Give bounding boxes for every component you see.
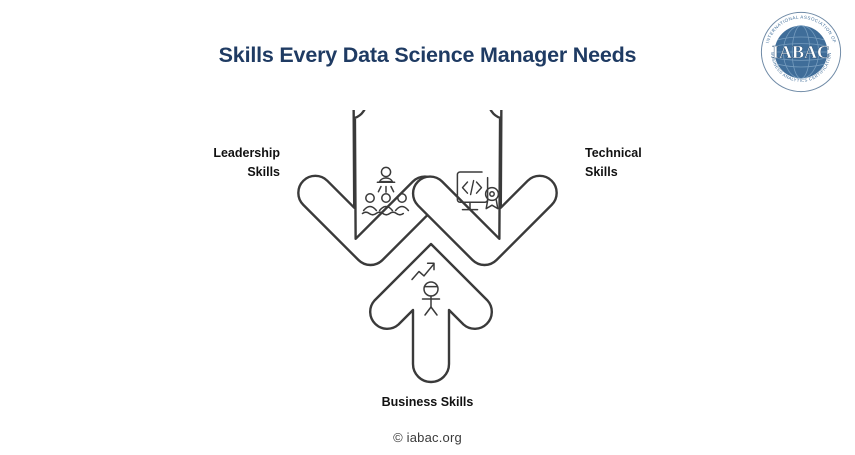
arrow-business-shape [370, 244, 492, 382]
footer-credit: © iabac.org [0, 430, 855, 445]
skill-label-business: Business Skills [0, 393, 855, 412]
page-title: Skills Every Data Science Manager Needs [0, 43, 855, 68]
skill-label-leadership: Leadership Skills [120, 144, 280, 182]
skill-label-technical: Technical Skills [585, 144, 755, 182]
arrow-business[interactable] [370, 244, 492, 382]
